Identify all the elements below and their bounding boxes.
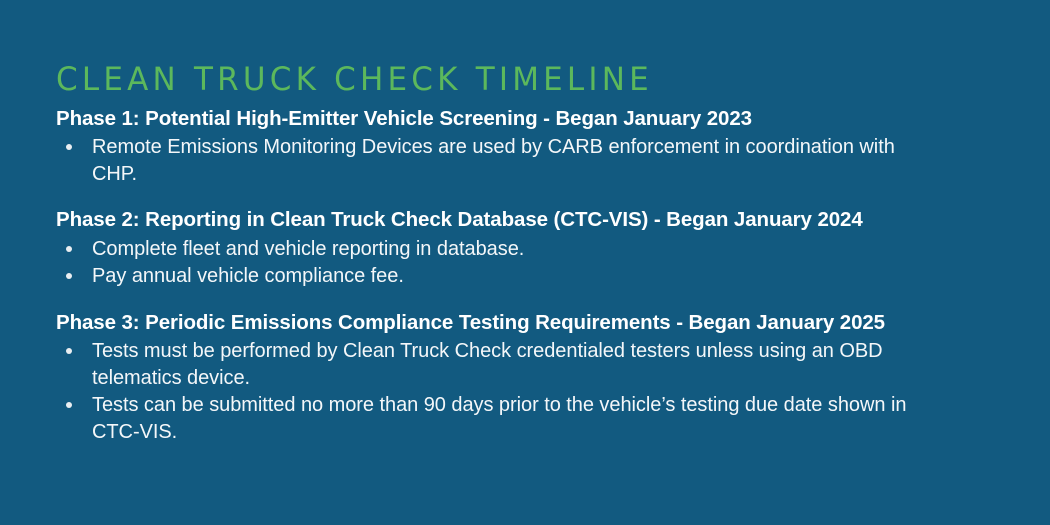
bullet-text: Tests must be performed by Clean Truck C…	[92, 338, 972, 391]
phase-2-bullets: Complete fleet and vehicle reporting in …	[0, 236, 1050, 290]
bullet-dot-icon	[66, 402, 72, 408]
list-item: Tests must be performed by Clean Truck C…	[0, 338, 1050, 391]
clean-truck-check-timeline-graphic: Clean Truck Check Timeline Phase 1: Pote…	[0, 0, 1050, 525]
phase-2-heading: Phase 2: Reporting in Clean Truck Check …	[0, 207, 1050, 233]
phase-1-bullets: Remote Emissions Monitoring Devices are …	[0, 134, 1050, 187]
list-item: Tests can be submitted no more than 90 d…	[0, 392, 1050, 445]
page-title: Clean Truck Check Timeline	[56, 64, 653, 96]
phase-3-bullets: Tests must be performed by Clean Truck C…	[0, 338, 1050, 445]
bullet-text: Pay annual vehicle compliance fee.	[92, 263, 997, 290]
phase-3-heading: Phase 3: Periodic Emissions Compliance T…	[0, 310, 1050, 336]
list-item: Complete fleet and vehicle reporting in …	[0, 236, 1050, 263]
bullet-text: Remote Emissions Monitoring Devices are …	[92, 134, 904, 187]
list-item: Remote Emissions Monitoring Devices are …	[0, 134, 1050, 187]
bullet-dot-icon	[66, 348, 72, 354]
phase-section-1: Phase 1: Potential High-Emitter Vehicle …	[0, 106, 1050, 187]
bullet-dot-icon	[66, 273, 72, 279]
bullet-text: Complete fleet and vehicle reporting in …	[92, 236, 997, 263]
phase-1-heading: Phase 1: Potential High-Emitter Vehicle …	[0, 106, 1050, 132]
phase-list: Phase 1: Potential High-Emitter Vehicle …	[0, 106, 1050, 445]
bullet-dot-icon	[66, 144, 72, 150]
list-item: Pay annual vehicle compliance fee.	[0, 263, 1050, 290]
bullet-dot-icon	[66, 246, 72, 252]
phase-section-3: Phase 3: Periodic Emissions Compliance T…	[0, 310, 1050, 446]
bullet-text: Tests can be submitted no more than 90 d…	[92, 392, 954, 445]
phase-section-2: Phase 2: Reporting in Clean Truck Check …	[0, 207, 1050, 289]
